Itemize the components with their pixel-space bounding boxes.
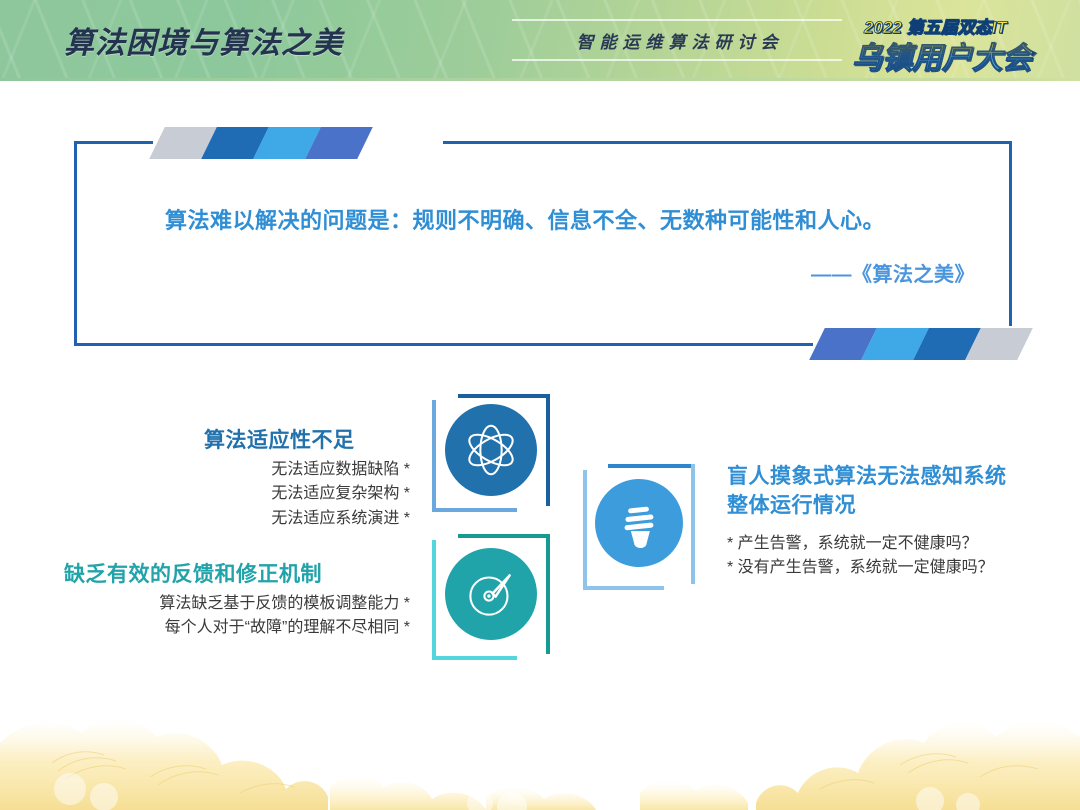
list-item: 无法适应系统演进 * [120,507,410,531]
frame-edge-bottom [432,508,517,512]
quote-decor-bars-top [157,127,365,159]
logo-line-2: 乌镇用户大会 [852,33,1032,77]
quote-callout-box: 算法难以解决的问题是：规则不明确、信息不全、无数种可能性和人心。 ——《算法之美… [74,141,1012,346]
golden-cloud-pattern [0,685,1080,810]
list-item: 无法适应复杂架构 * [120,482,410,506]
frame-edge-left [583,470,587,590]
frame-edge-right [546,534,550,654]
list-item: * 没有产生告警，系统就一定健康吗？ [727,556,1057,580]
list-item: * 产生告警，系统就一定不健康吗？ [727,532,1057,556]
event-subtitle: 智能运维算法研讨会 [512,19,842,61]
block-lines-blind-men: * 产生告警，系统就一定不健康吗？ * 没有产生告警，系统就一定健康吗？ [727,532,1057,581]
frame-edge-top [458,534,550,538]
block-lines-feedback: 算法缺乏基于反馈的模板调整能力 * 每个人对于“故障”的理解不尽相同 * [30,592,410,641]
lightbulb-icon [595,479,683,567]
event-subtitle-group: 智能运维算法研讨会 [512,19,842,61]
frame-edge-top [608,464,695,468]
quote-attribution: ——《算法之美》 [811,258,975,287]
list-item: 每个人对于“故障”的理解不尽相同 * [30,616,410,640]
frame-edge-right [691,464,695,584]
frame-edge-right [546,394,550,506]
block-lines-adaptability: 无法适应数据缺陷 * 无法适应复杂架构 * 无法适应系统演进 * [120,458,410,531]
list-item: 无法适应数据缺陷 * [120,458,410,482]
atom-icon [445,404,537,496]
quote-text: 算法难以解决的问题是：规则不明确、信息不全、无数种可能性和人心。 [165,206,965,237]
block-title-feedback: 缺乏有效的反馈和修正机制 [64,558,322,588]
vinyl-record-icon-frame [432,534,550,660]
subtitle-rule-bottom [512,59,842,61]
frame-edge-bottom [583,586,664,590]
atom-icon-frame [432,394,550,512]
quote-decor-bars-bottom [817,328,1025,360]
lightbulb-icon-frame [583,464,695,590]
header-bottom-rule [0,78,1080,81]
frame-edge-bottom [432,656,517,660]
frame-edge-left [432,540,436,660]
page-header: 算法困境与算法之美 智能运维算法研讨会 2022 第五届双态IT 乌镇用户大会 [0,0,1080,78]
conference-logo: 2022 第五届双态IT 乌镇用户大会 [852,13,1024,69]
frame-edge-top [458,394,550,398]
list-item: 算法缺乏基于反馈的模板调整能力 * [30,592,410,616]
frame-edge-left [432,400,436,512]
vinyl-record-icon [445,548,537,640]
page-title: 算法困境与算法之美 [64,18,343,62]
block-title-adaptability: 算法适应性不足 [204,424,355,454]
block-title-blind-men: 盲人摸象式算法无法感知系统整体运行情况 [727,463,1017,521]
